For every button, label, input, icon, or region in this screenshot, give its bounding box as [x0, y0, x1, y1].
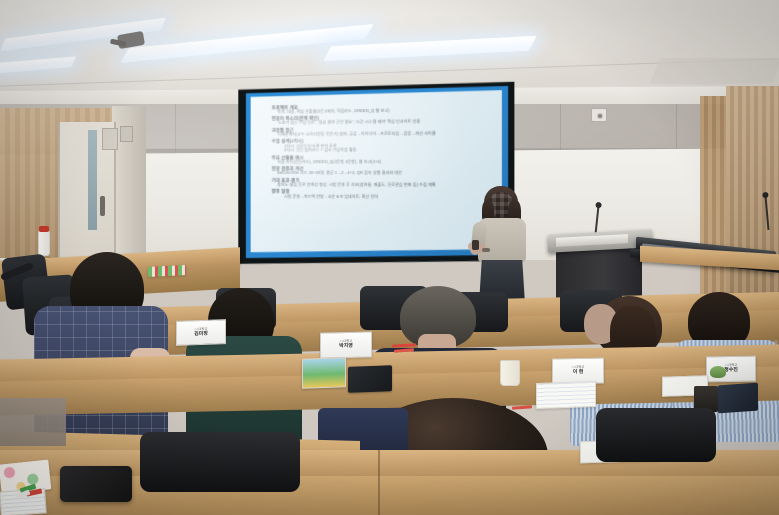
name-card-name: 정수진	[724, 368, 738, 374]
wall-sensor-icon	[591, 108, 607, 122]
slide-bullet: 2차시: 진단 참여카드 + 검사·가상작업 활동	[284, 148, 493, 154]
office-chair[interactable]	[140, 432, 300, 492]
door-panel	[102, 128, 118, 150]
slide-bullet: '소호가 있는 수업 진로', '실습 참여 곤란 필요', '시간·시스템 제…	[277, 119, 493, 126]
small-plant	[710, 366, 726, 378]
paper-cup[interactable]	[500, 360, 520, 386]
projected-slide: 프로젝트 개요목적, 대상, 핵심 산출물(2건 2회차, 직접카드, GREE…	[251, 90, 502, 256]
slide-bullet: 시범 운영→피드백 반영→교안 & R 업데이트, 확산 전략	[284, 194, 493, 200]
floor	[0, 398, 66, 446]
name-card-name: 박지영	[339, 344, 353, 350]
seminar-room-photo: 프로젝트 개요목적, 대상, 핵심 산출물(2건 2회차, 직접카드, GREE…	[0, 0, 779, 515]
door-sign	[120, 126, 133, 142]
slide-bullet: Before/After 카드 20~30명, 평균 1→3→4+4, QR 접…	[277, 171, 493, 176]
presenter-watch	[482, 248, 490, 252]
slide-bullet: 직접 카드(진단카드), GREEN_Q(4문항 4문항), 웹 보고(4+4)	[277, 160, 493, 165]
desk-seam	[378, 450, 380, 515]
ceiling-tile	[650, 58, 779, 84]
folder[interactable]	[718, 383, 758, 414]
slide-bullet: 참여도·몰입 진로 연계성 향상, 시범 운영 후 지표(참여율, 매출도, 진…	[277, 183, 493, 188]
door-glass	[88, 130, 97, 230]
name-card: ○○대학교 박지영	[320, 331, 372, 358]
name-card-name: 이 현	[573, 370, 584, 376]
door-handle[interactable]	[100, 196, 105, 216]
booklet[interactable]	[302, 357, 346, 389]
name-card-name: 김미정	[194, 332, 208, 338]
name-card: ○○대학교 김미정	[176, 319, 226, 346]
bottle-cap	[39, 226, 49, 232]
slide-bullet: 이해관계자(교수·교육지원팀·전문가) 참여, 공감→아이디어→프로토타입→검증…	[277, 131, 493, 137]
presentation-clicker[interactable]	[472, 240, 479, 250]
name-card: ○○대학교 이 현	[552, 358, 604, 385]
office-chair[interactable]	[596, 408, 716, 462]
black-pouch[interactable]	[60, 466, 132, 502]
tablet[interactable]	[348, 365, 392, 393]
